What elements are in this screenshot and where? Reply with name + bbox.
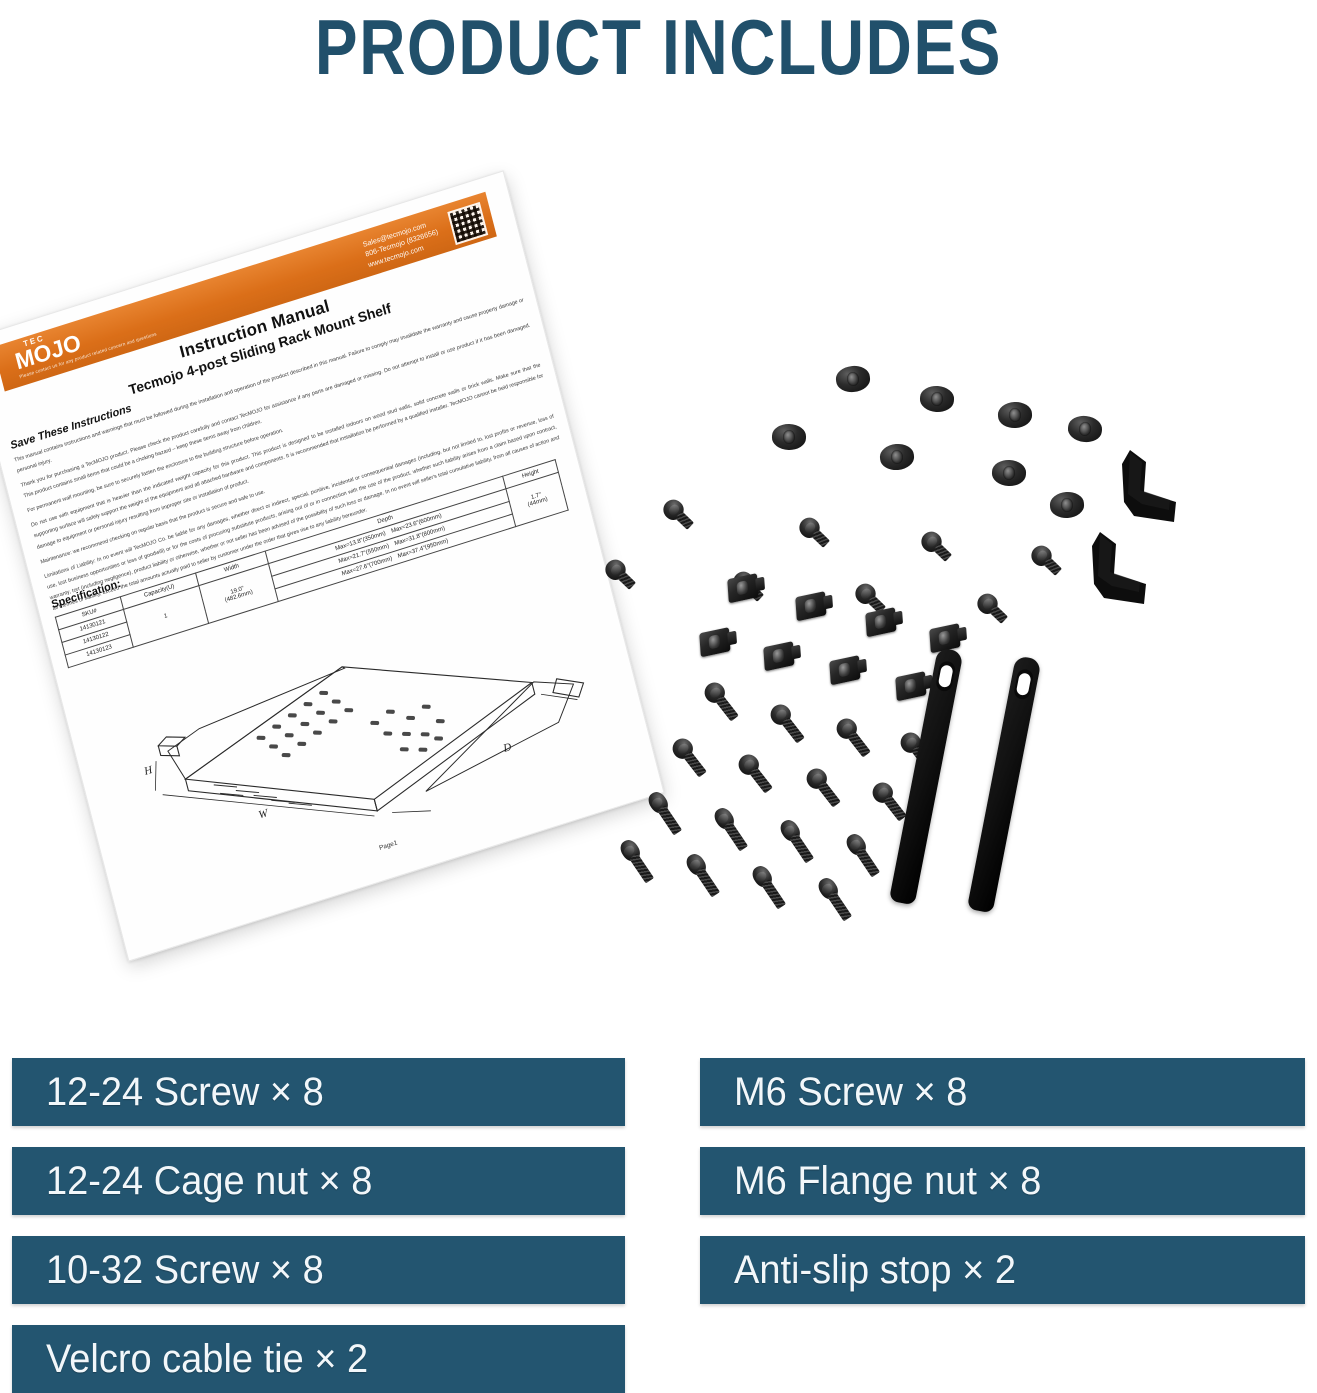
m6-flange-nut	[997, 401, 1032, 429]
cage-nut	[865, 609, 903, 639]
parts-legend: 12-24 Screw × 8 12-24 Cage nut × 8 10-32…	[0, 1050, 1317, 1392]
m6-screw	[601, 556, 647, 601]
ten-thirtytwo-screw	[767, 701, 810, 748]
m6-screw	[973, 590, 1019, 635]
ten-thirtytwo-screw	[735, 751, 778, 798]
twelve-twentyfour-screw	[747, 862, 788, 910]
ten-thirtytwo-screw	[803, 765, 846, 812]
hardware-parts-photo	[600, 340, 1317, 980]
twelve-twentyfour-screw	[813, 874, 854, 922]
drawing-label-d: D	[501, 741, 513, 755]
m6-flange-nut	[919, 385, 955, 413]
manual-sheet: TEC MOJO Please contact us for any produ…	[0, 170, 664, 961]
twelve-twentyfour-screw	[709, 804, 750, 852]
drawing-label-h: H	[142, 764, 155, 779]
m6-flange-nut	[1049, 491, 1085, 519]
legend-label: 12-24 Cage nut × 8	[46, 1158, 372, 1204]
twelve-twentyfour-screw	[775, 816, 816, 864]
legend-item-10-32-screw[interactable]: 10-32 Screw × 8	[12, 1236, 625, 1304]
ten-thirtytwo-screw	[833, 715, 876, 762]
drawing-label-w: W	[257, 807, 270, 822]
velcro-cable-tie	[965, 655, 1050, 927]
cage-nut	[829, 657, 867, 687]
m6-screw	[1027, 542, 1073, 587]
anti-slip-stop	[1070, 526, 1154, 610]
page-title: PRODUCT INCLUDES	[119, 4, 1199, 90]
twelve-twentyfour-screw	[681, 850, 722, 898]
anti-slip-stop	[1100, 444, 1184, 528]
legend-item-m6-screw[interactable]: M6 Screw × 8	[700, 1058, 1305, 1126]
legend-item-anti-slip-stop[interactable]: Anti-slip stop × 2	[700, 1236, 1305, 1304]
cage-nut	[727, 575, 765, 605]
legend-label: Velcro cable tie × 2	[46, 1336, 368, 1382]
legend-label: 12-24 Screw × 8	[46, 1069, 324, 1115]
legend-item-12-24-screw[interactable]: 12-24 Screw × 8	[12, 1058, 625, 1126]
m6-flange-nut	[879, 443, 915, 472]
legend-label: Anti-slip stop × 2	[734, 1247, 1016, 1293]
ten-thirtytwo-screw	[701, 679, 744, 726]
m6-screw	[659, 496, 705, 541]
legend-item-velcro-tie[interactable]: Velcro cable tie × 2	[12, 1325, 625, 1393]
cage-nut	[699, 629, 737, 659]
m6-flange-nut	[835, 364, 872, 393]
m6-screw	[917, 528, 963, 573]
legend-label: 10-32 Screw × 8	[46, 1247, 324, 1293]
cage-nut	[795, 593, 833, 623]
m6-flange-nut	[1067, 414, 1104, 444]
m6-flange-nut	[772, 423, 807, 450]
instruction-manual-photo: TEC MOJO Please contact us for any produ…	[0, 215, 690, 935]
cage-nut	[763, 643, 801, 673]
ten-thirtytwo-screw	[669, 735, 712, 782]
m6-flange-nut	[991, 459, 1026, 487]
twelve-twentyfour-screw	[615, 836, 656, 884]
legend-label: M6 Flange nut × 8	[734, 1158, 1041, 1204]
product-includes-infographic: PRODUCT INCLUDES TEC MOJO Please contact…	[0, 0, 1317, 1392]
legend-label: M6 Screw × 8	[734, 1069, 967, 1115]
m6-screw	[795, 514, 841, 559]
twelve-twentyfour-screw	[643, 788, 684, 836]
twelve-twentyfour-screw	[841, 830, 882, 878]
qr-code-icon	[447, 202, 488, 245]
legend-item-m6-flange-nut[interactable]: M6 Flange nut × 8	[700, 1147, 1305, 1215]
legend-item-12-24-cage-nut[interactable]: 12-24 Cage nut × 8	[12, 1147, 625, 1215]
